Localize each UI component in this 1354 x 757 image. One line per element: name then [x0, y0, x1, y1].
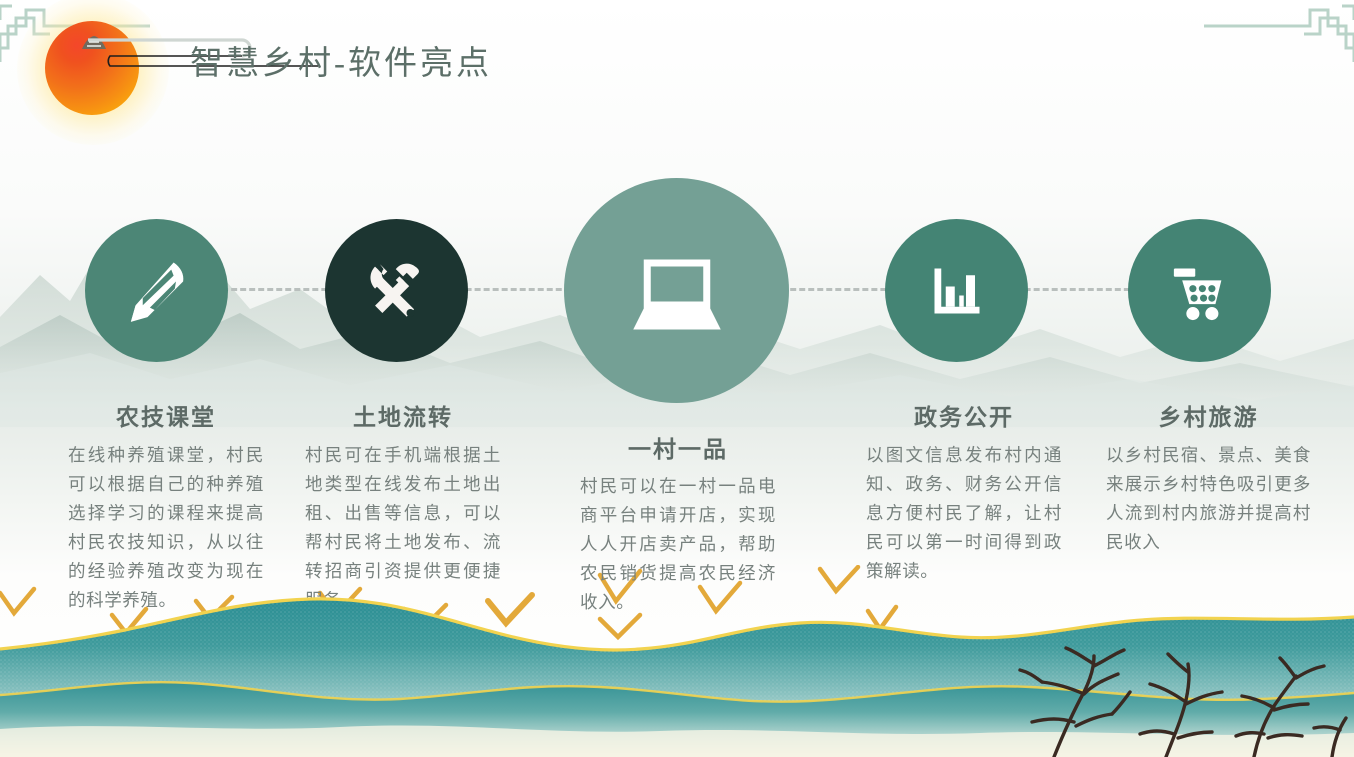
feature-heading-4: 政务公开: [866, 398, 1062, 432]
feature-circle-1[interactable]: [85, 219, 228, 362]
feature-circle-3[interactable]: [564, 178, 789, 403]
feature-circle-4[interactable]: [885, 219, 1028, 362]
feature-body-5: 以乡村民宿、景点、美食来展示乡村特色吸引更多人流到村内旅游并提高村民收入: [1106, 441, 1311, 557]
feature-card-1: 农技课堂 在线种养殖课堂，村民可以根据自己的种养殖选择学习的课程来提高村民农技知…: [68, 398, 264, 615]
bar-chart-icon: [921, 255, 993, 327]
pencil-icon: [119, 253, 195, 329]
page-title: 智慧乡村-软件亮点: [190, 36, 492, 84]
feature-heading-3: 一村一品: [580, 430, 776, 464]
feature-card-2: 土地流转 村民可在手机端根据土地类型在线发布土地出租、出售等信息，可以帮村民将土…: [305, 398, 501, 615]
feature-body-4: 以图文信息发布村内通知、政务、财务公开信息方便村民了解，让村民可以第一时间得到政…: [866, 441, 1062, 586]
feature-card-5: 乡村旅游 以乡村民宿、景点、美食来展示乡村特色吸引更多人流到村内旅游并提高村民收…: [1106, 398, 1311, 557]
feature-circle-5[interactable]: [1128, 219, 1271, 362]
shopping-cart-icon: [1162, 253, 1238, 329]
title-block: 智慧乡村-软件亮点: [0, 0, 620, 130]
feature-circle-2[interactable]: [325, 219, 468, 362]
feature-heading-2: 土地流转: [305, 398, 501, 432]
feature-heading-5: 乡村旅游: [1106, 398, 1311, 432]
hammer-wrench-icon: [358, 252, 436, 330]
slide-canvas: 智慧乡村-软件亮点: [0, 0, 1354, 757]
laptop-icon: [621, 235, 733, 347]
feature-heading-1: 农技课堂: [68, 398, 264, 432]
feature-card-4: 政务公开 以图文信息发布村内通知、政务、财务公开信息方便村民了解，让村民可以第一…: [866, 398, 1062, 586]
bare-tree-branches-icon: [934, 622, 1354, 757]
